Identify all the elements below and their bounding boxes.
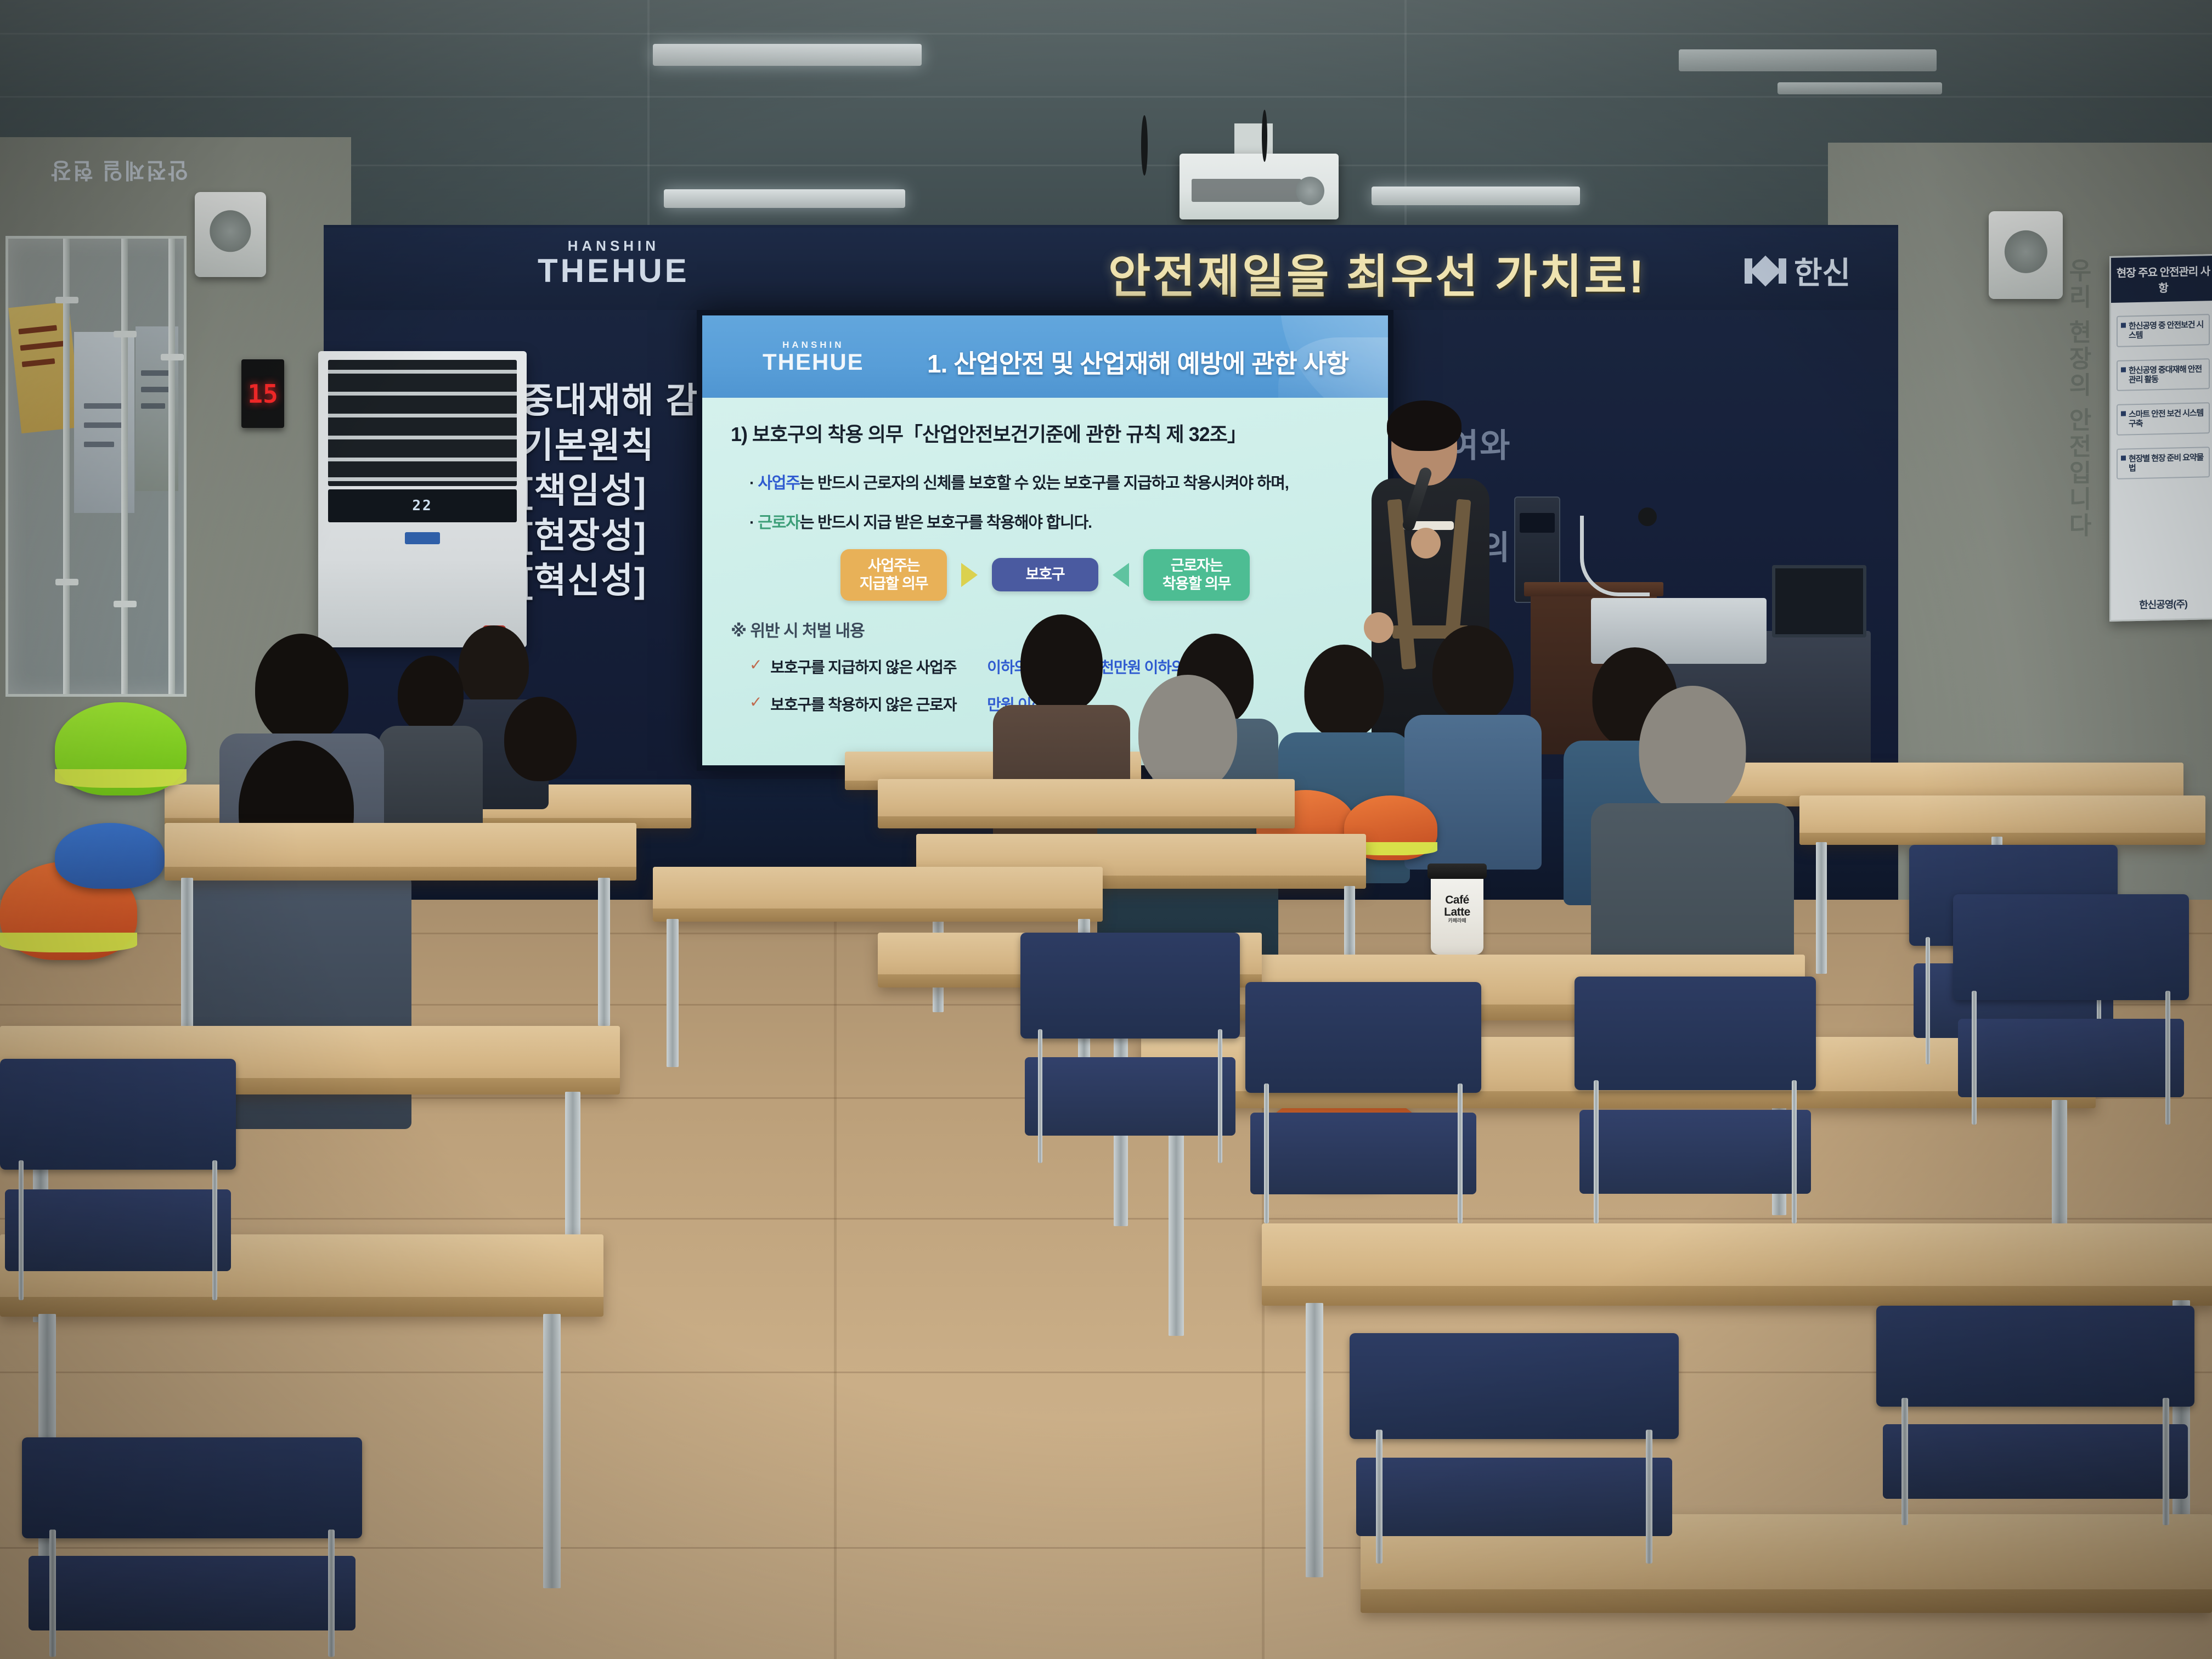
cup-brand-sub: 카페라떼 bbox=[1431, 918, 1483, 923]
wall-flipped-lettering: 안전제일 현장 bbox=[49, 156, 188, 188]
right-wall-vertical-text: 우리 현장의 안전입니다 bbox=[2058, 258, 2097, 539]
safety-notice-board: 현장 주요 안전관리 사항 한신공영 중 안전보건 시스템 한신공영 중대재해 … bbox=[2109, 254, 2212, 622]
chair-seat bbox=[29, 1556, 355, 1630]
desk bbox=[1262, 1223, 2212, 1306]
projector-lens bbox=[1296, 177, 1324, 205]
ceiling-projector bbox=[1180, 154, 1339, 219]
chair-back bbox=[1350, 1333, 1679, 1439]
desk bbox=[165, 823, 636, 881]
flow-box-employer: 사업주는 지급할 의무 bbox=[840, 549, 947, 601]
poster-yellow bbox=[8, 302, 81, 433]
chair[interactable] bbox=[1020, 933, 1240, 1163]
banner-slogan: 안전제일을 최우선 가치로! bbox=[1108, 240, 1646, 306]
bullet-text: 는 반드시 지급 받은 보호구를 착용해야 합니다. bbox=[800, 514, 1092, 532]
air-conditioner: 22 bbox=[318, 351, 527, 647]
presenter-hand-free bbox=[1364, 612, 1393, 643]
ceiling-light bbox=[664, 189, 905, 208]
hard-hat-blue bbox=[55, 823, 165, 889]
poster-display-case bbox=[5, 236, 187, 697]
chair[interactable] bbox=[1350, 1333, 1679, 1564]
ac-grille bbox=[328, 360, 517, 486]
cup-brand-line2: Latte bbox=[1431, 906, 1483, 918]
slide-heading: 1) 보호구의 착용 의무「산업안전보건기준에 관한 규칙 제 32조」 bbox=[731, 419, 1359, 447]
chair-back bbox=[1575, 977, 1816, 1090]
microphone-head-icon bbox=[1638, 507, 1657, 526]
chair-seat bbox=[1025, 1057, 1235, 1136]
chair-back bbox=[0, 1059, 236, 1170]
notice-item: 스마트 안전 보건 시스템 구축 bbox=[2117, 402, 2210, 435]
flow-box-line2: 지급할 의무 bbox=[853, 575, 935, 593]
chair[interactable] bbox=[1575, 977, 1816, 1223]
chair[interactable] bbox=[22, 1437, 362, 1657]
flow-box-line1: 사업주는 bbox=[853, 557, 935, 575]
banner-brand-logo: HANSHIN THEHUE bbox=[538, 238, 690, 287]
led-value: 15 bbox=[247, 379, 278, 409]
notice-item: 한신공영 중 안전보건 시스템 bbox=[2117, 314, 2210, 347]
chair-seat bbox=[1579, 1110, 1811, 1194]
chair-seat bbox=[1883, 1424, 2188, 1499]
coffee-cup: Café Latte 카페라떼 bbox=[1431, 872, 1483, 955]
ceiling-light bbox=[1679, 49, 1937, 71]
chair-back bbox=[1020, 933, 1240, 1039]
safety-banner: HANSHIN THEHUE 안전제일을 최우선 가치로! 한신 bbox=[324, 228, 1898, 310]
hanshin-diamond-icon bbox=[1745, 258, 1786, 284]
chair[interactable] bbox=[1245, 982, 1481, 1223]
monitor bbox=[1772, 565, 1866, 637]
cup-label: Café Latte 카페라떼 bbox=[1431, 894, 1483, 924]
ceiling-light bbox=[1372, 187, 1580, 205]
gooseneck-microphone bbox=[1580, 516, 1650, 596]
ac-brand-logo bbox=[405, 532, 440, 544]
slide-bullet-list: 사업주는 반드시 근로자의 신체를 보호할 수 있는 보호구를 지급하고 착용시… bbox=[749, 470, 1359, 533]
penalty-subject: 보호구를 지급하지 않은 사업주 bbox=[770, 656, 956, 678]
desk bbox=[1799, 795, 2205, 845]
wall-speaker-left bbox=[195, 192, 266, 277]
desk bbox=[878, 779, 1295, 828]
check-icon: ✓ bbox=[749, 656, 761, 678]
notice-board-footer: 한신공영(주) bbox=[2111, 596, 2212, 612]
banner-corp-name: 한신 bbox=[1794, 249, 1850, 293]
slide-header: HANSHIN THEHUE 1. 산업안전 및 산업재해 예방에 관한 사항 bbox=[702, 315, 1388, 398]
flow-box-ppe: 보호구 bbox=[992, 558, 1098, 591]
chair[interactable] bbox=[1953, 894, 2189, 1125]
flow-box-line1: 근로자는 bbox=[1155, 557, 1238, 575]
presenter-hair bbox=[1387, 400, 1462, 451]
ac-temperature-display: 22 bbox=[328, 489, 517, 522]
slide-brand-logo: HANSHIN THEHUE bbox=[763, 340, 864, 374]
slide-logo-main: THEHUE bbox=[763, 351, 864, 374]
bullet-keyword: 근로자 bbox=[758, 514, 799, 532]
projector-cable bbox=[1141, 115, 1148, 176]
chair[interactable] bbox=[1876, 1306, 2194, 1525]
penalty-subject: 보호구를 착용하지 않은 근로자 bbox=[770, 693, 956, 715]
control-unit-screen bbox=[1520, 513, 1555, 533]
chair-back bbox=[22, 1437, 362, 1538]
bullet-keyword: 사업주 bbox=[758, 475, 799, 492]
flow-box-line2: 착용할 의무 bbox=[1155, 575, 1238, 593]
slide-bullet: 근로자는 반드시 지급 받은 보호구를 착용해야 합니다. bbox=[749, 510, 1359, 533]
arrow-right-icon bbox=[961, 563, 978, 587]
flow-box-worker: 근로자는 착용할 의무 bbox=[1143, 549, 1250, 601]
chair-back bbox=[1953, 894, 2189, 1000]
slide-flow-diagram: 사업주는 지급할 의무 보호구 근로자는 착용할 의무 bbox=[731, 549, 1359, 601]
ceiling-light bbox=[1778, 82, 1942, 94]
slide-title: 1. 산업안전 및 산업재해 예방에 관한 사항 bbox=[927, 344, 1348, 380]
banner-brand-main: THEHUE bbox=[538, 255, 690, 287]
ceiling-light bbox=[653, 44, 922, 66]
flow-box-line1: 보호구 bbox=[1004, 566, 1086, 584]
wall-speaker-right bbox=[1989, 211, 2063, 299]
notice-item: 현장별 현장 준비 요약물 법 bbox=[2117, 447, 2210, 479]
chair-seat bbox=[1958, 1019, 2185, 1097]
notice-item: 한신공영 중대재해 안전 관리 활동 bbox=[2117, 358, 2210, 391]
cup-lid bbox=[1427, 864, 1487, 879]
chair[interactable] bbox=[0, 1059, 236, 1300]
chair-seat bbox=[1250, 1113, 1477, 1195]
chair-back bbox=[1245, 982, 1481, 1093]
check-icon: ✓ bbox=[749, 693, 761, 715]
hard-hat-green bbox=[55, 702, 187, 795]
cup-brand-line1: Café bbox=[1431, 894, 1483, 906]
projector-cable bbox=[1262, 110, 1267, 162]
chair-seat bbox=[1356, 1458, 1672, 1536]
speaker-cone bbox=[210, 211, 251, 252]
led-clock-display: 15 bbox=[241, 359, 284, 428]
classroom-photo: HANSHIN THEHUE 안전제일을 최우선 가치로! 한신 중대재해 감축… bbox=[0, 0, 2212, 1659]
banner-corp-logo: 한신 bbox=[1745, 249, 1850, 293]
speaker-cone bbox=[2004, 230, 2047, 273]
bullet-text: 는 반드시 근로자의 신체를 보호할 수 있는 보호구를 지급하고 착용시켜야 … bbox=[800, 475, 1289, 492]
chair-seat bbox=[5, 1189, 232, 1272]
desk bbox=[653, 867, 1103, 922]
ac-temperature-value: 22 bbox=[412, 498, 432, 514]
arrow-left-icon bbox=[1113, 563, 1129, 587]
presenter-hand-mic bbox=[1411, 528, 1441, 558]
projector-ports bbox=[1192, 179, 1301, 202]
notice-board-title: 현장 주요 안전관리 사항 bbox=[2111, 256, 2212, 303]
slide-bullet: 사업주는 반드시 근로자의 신체를 보호할 수 있는 보호구를 지급하고 착용시… bbox=[749, 470, 1359, 493]
chair-back bbox=[1876, 1306, 2194, 1407]
